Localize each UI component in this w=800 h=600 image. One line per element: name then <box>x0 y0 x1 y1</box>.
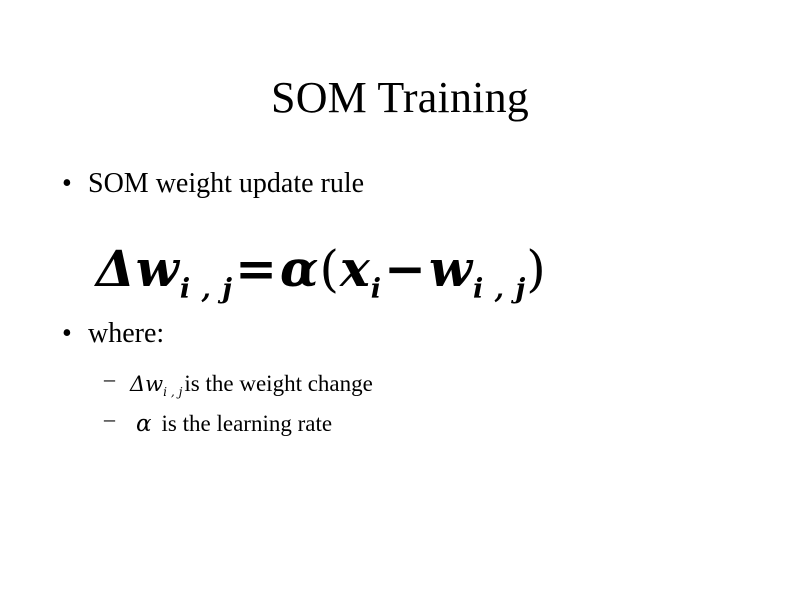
formula-subscript-ij-left: i , j <box>180 273 233 304</box>
dash-marker-icon: – <box>104 407 130 431</box>
sub-bullet-math-delta-w: Δwi , j <box>130 372 184 399</box>
formula-weight-update: Δwi , j=α(xi−wi , j) <box>96 240 547 318</box>
formula-minus: − <box>382 239 429 298</box>
formula-subscript-i: i <box>371 273 382 304</box>
dash-marker-icon: – <box>104 367 130 391</box>
formula-open-paren: ( <box>319 240 340 298</box>
formula-x: x <box>340 239 371 298</box>
bullet-label: SOM weight update rule <box>88 168 364 200</box>
formula-w-right: w <box>429 239 473 298</box>
formula-delta: Δ <box>96 239 136 298</box>
sub-bullet-item-weight-change: – Δwi , j is the weight change <box>104 371 373 399</box>
formula-w-left: w <box>136 239 180 298</box>
bullet-item-where: • where: <box>62 318 164 350</box>
sub-bullet-label: is the weight change <box>184 371 372 397</box>
sub-math-subscript: i , j <box>163 385 182 399</box>
formula-close-paren: ) <box>526 240 547 298</box>
page-title: SOM Training <box>0 72 800 124</box>
sub-math-symbol: Δw <box>130 372 163 396</box>
formula-alpha: α <box>280 239 319 298</box>
sub-bullet-math-alpha: α <box>130 411 162 437</box>
sub-bullet-label: is the learning rate <box>162 411 333 437</box>
formula-equals: = <box>233 239 280 298</box>
bullet-marker-icon: • <box>62 169 88 199</box>
bullet-label: where: <box>88 318 164 350</box>
bullet-item-weight-update-rule: • SOM weight update rule <box>62 168 364 200</box>
formula-subscript-ij-right: i , j <box>473 273 526 304</box>
bullet-marker-icon: • <box>62 319 88 349</box>
slide-canvas: SOM Training • SOM weight update rule Δw… <box>0 0 800 600</box>
sub-bullet-item-learning-rate: – α is the learning rate <box>104 411 332 437</box>
